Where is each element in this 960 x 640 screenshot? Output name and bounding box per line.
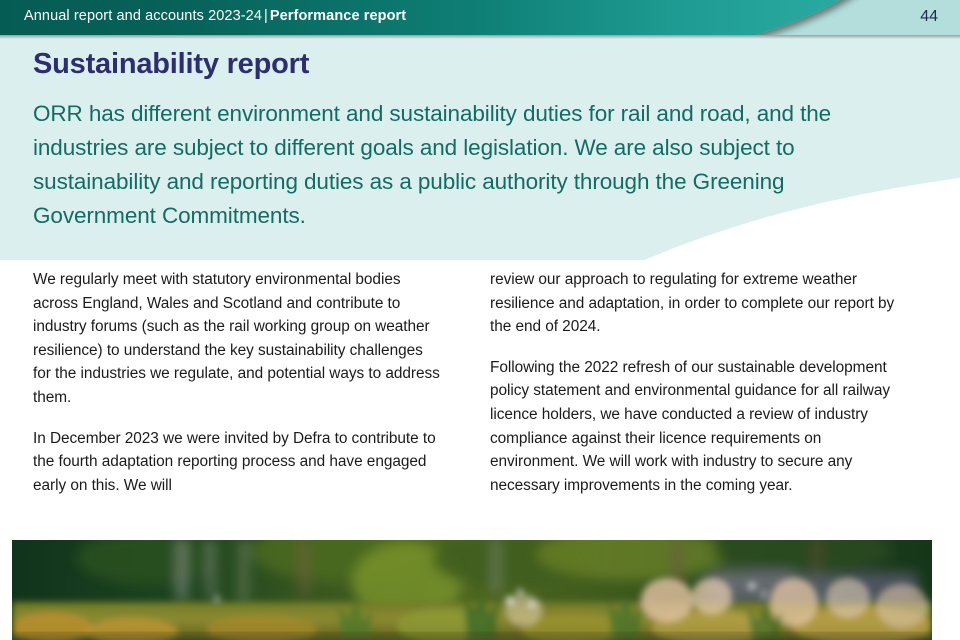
- header-title-bold: Performance report: [270, 8, 406, 24]
- intro-paragraph: ORR has different environment and sustai…: [33, 97, 903, 233]
- running-header: Annual report and accounts 2023-24|Perfo…: [0, 0, 960, 35]
- page-number: 44: [920, 6, 938, 27]
- right-column-paragraph-1: review our approach to regulating for ex…: [490, 268, 901, 339]
- header-running-title: Annual report and accounts 2023-24|Perfo…: [24, 7, 406, 26]
- header-drop-shadow: [0, 35, 960, 39]
- right-column-paragraph-2: Following the 2022 refresh of our sustai…: [490, 356, 901, 498]
- intro-panel: Sustainability report ORR has different …: [0, 35, 960, 260]
- body-columns: We regularly meet with statutory environ…: [33, 268, 928, 530]
- left-column-paragraph-1: We regularly meet with statutory environ…: [33, 268, 444, 410]
- meadow-photograph-artwork: [12, 540, 932, 640]
- page-title: Sustainability report: [33, 46, 309, 82]
- header-title-regular: Annual report and accounts 2023-24: [24, 8, 262, 24]
- right-column: review our approach to regulating for ex…: [490, 268, 901, 530]
- left-column-paragraph-2: In December 2023 we were invited by Defr…: [33, 427, 444, 498]
- report-page: Annual report and accounts 2023-24|Perfo…: [0, 0, 960, 640]
- left-column: We regularly meet with statutory environ…: [33, 268, 444, 530]
- header-title-separator: |: [262, 8, 270, 24]
- meadow-photograph: [12, 540, 932, 640]
